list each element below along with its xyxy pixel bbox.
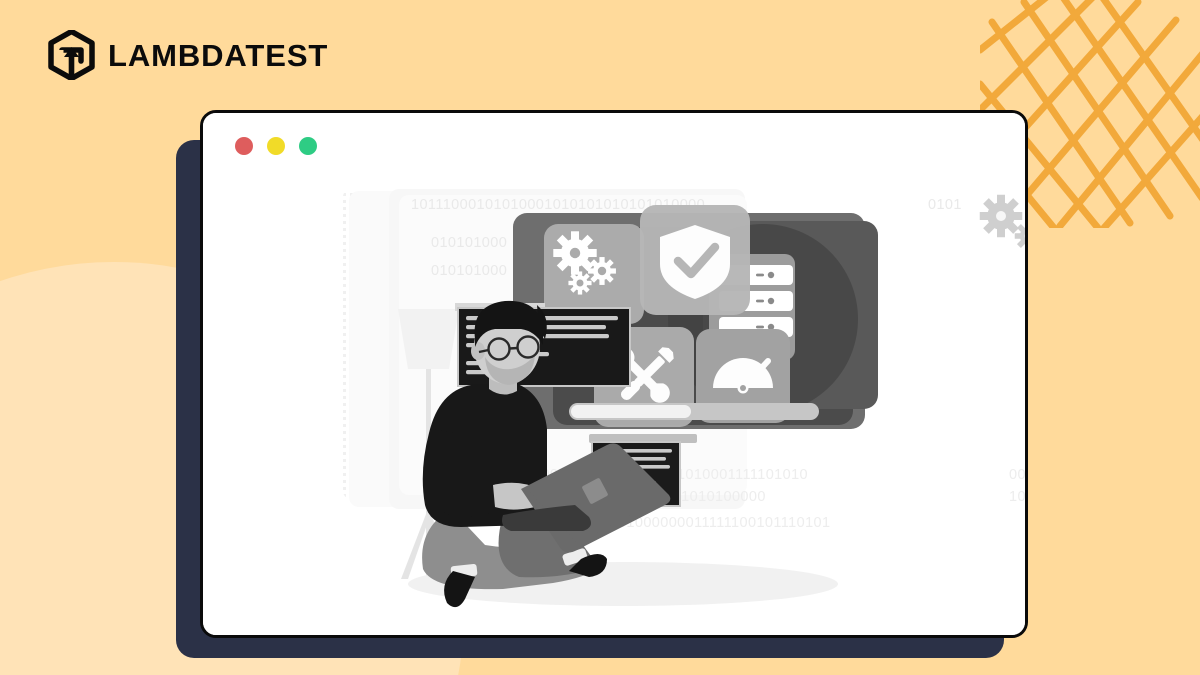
background-gears-icon	[980, 195, 1025, 251]
binary-line-mid-2: 010101000	[431, 263, 507, 279]
logo-wordmark: LAMBDATEST	[108, 40, 328, 71]
binary-line-top-right: 0101	[928, 197, 962, 213]
browser-titlebar	[203, 113, 1025, 179]
binary-line-bottom-2b: 101	[1009, 489, 1025, 505]
close-dot[interactable]	[235, 137, 253, 155]
maximize-dot[interactable]	[299, 137, 317, 155]
browser-window: 10111000101010001010101010101010000 0101…	[200, 110, 1028, 638]
software-testing-illustration: 10111000101010001010101010101010000 0101…	[203, 179, 1025, 637]
minimize-dot[interactable]	[267, 137, 285, 155]
hexagon-arrow-icon	[48, 30, 95, 80]
shield-card[interactable]	[640, 205, 750, 315]
illustration-area: 10111000101010001010101010101010000 0101…	[203, 179, 1025, 637]
binary-line-bottom-1b: 00	[1009, 467, 1025, 483]
progress-bar	[569, 403, 819, 420]
lambdatest-logo[interactable]: LAMBDATEST	[48, 30, 328, 80]
binary-line-mid-1: 010101000	[431, 235, 507, 251]
